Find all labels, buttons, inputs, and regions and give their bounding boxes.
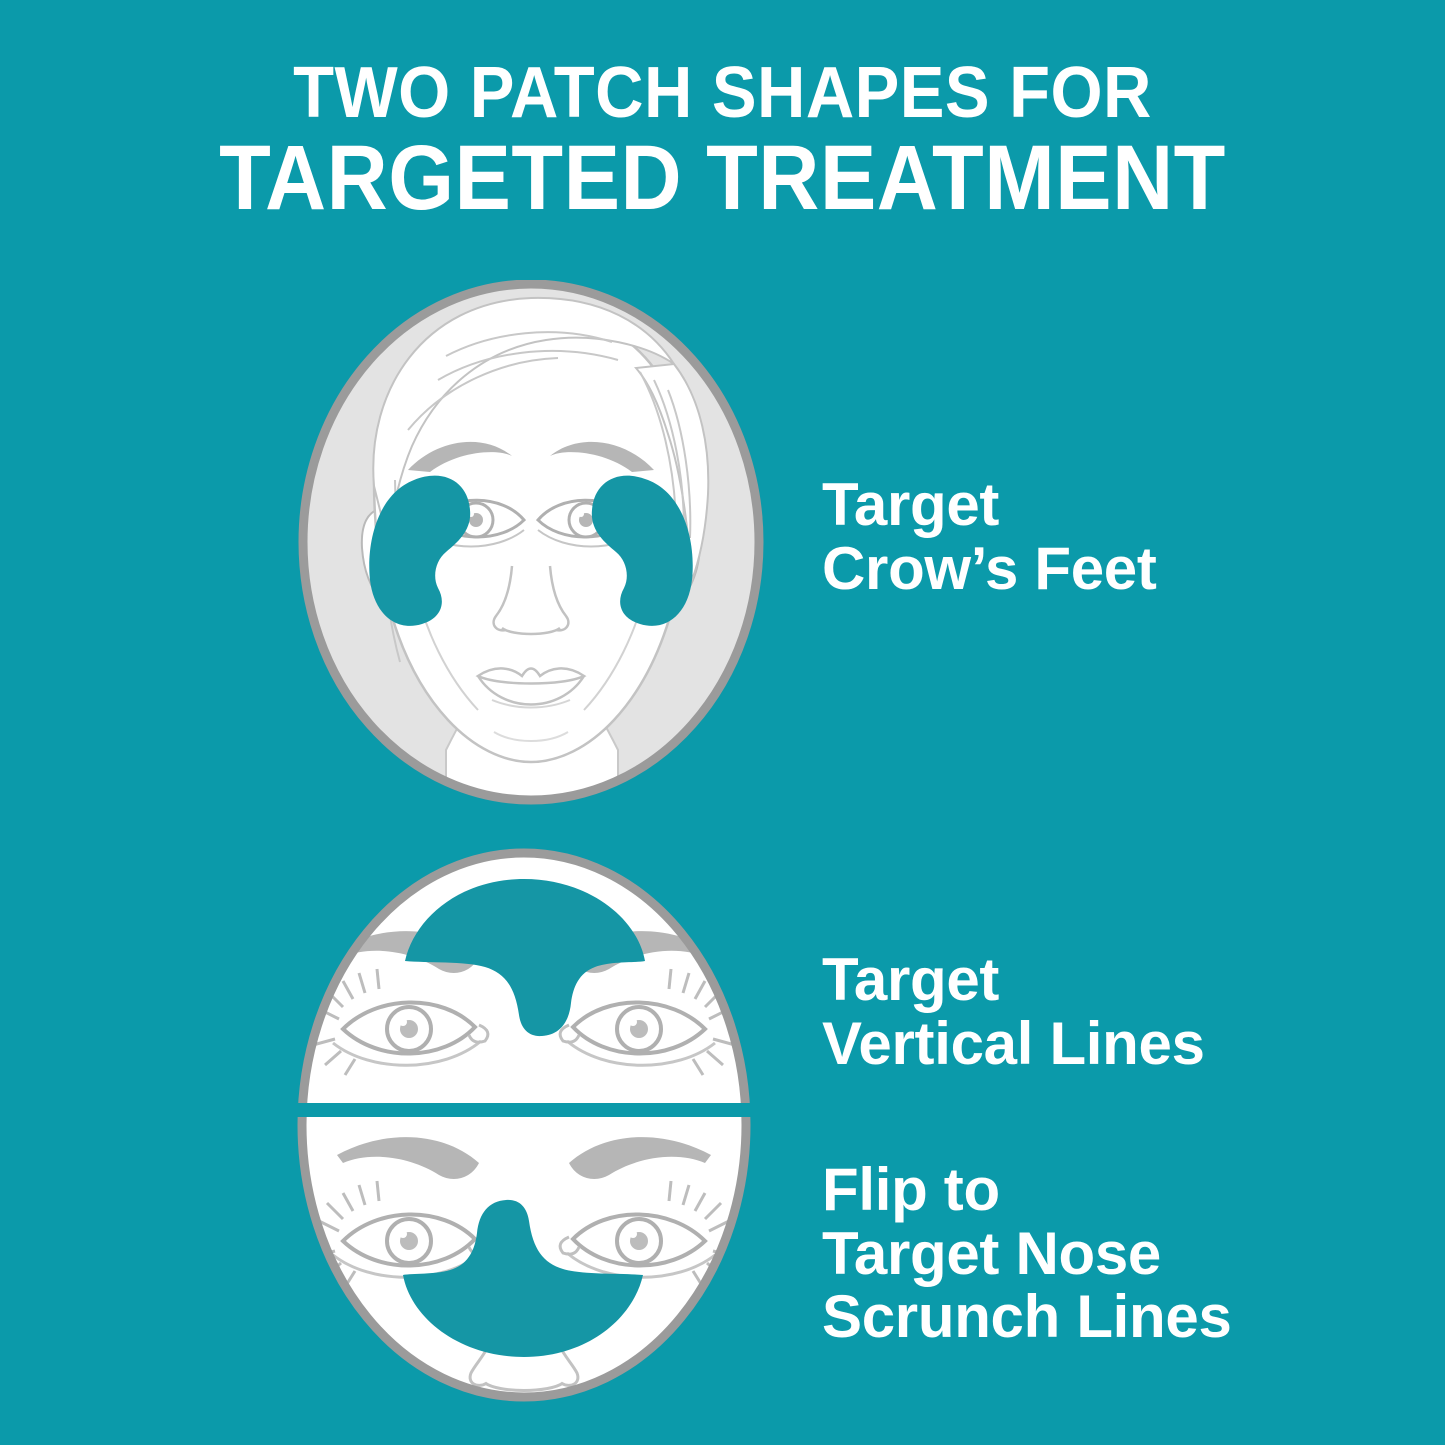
title-line-2: TARGETED TREATMENT: [58, 133, 1387, 223]
divider-band: [293, 1103, 755, 1117]
label-target-crows-feet: Target Crow’s Feet: [822, 473, 1157, 600]
poster-canvas: TWO PATCH SHAPES FOR TARGETED TREATMENT: [0, 0, 1445, 1445]
illustration-crows-feet: [296, 280, 766, 805]
illustration-split-face: [293, 845, 755, 1405]
label-target-vertical-lines: Target Vertical Lines: [822, 948, 1205, 1075]
page-title: TWO PATCH SHAPES FOR TARGETED TREATMENT: [0, 58, 1445, 223]
label-flip-to-target-nose-scrunch-lines: Flip to Target Nose Scrunch Lines: [822, 1158, 1232, 1349]
title-line-1: TWO PATCH SHAPES FOR: [51, 58, 1395, 129]
